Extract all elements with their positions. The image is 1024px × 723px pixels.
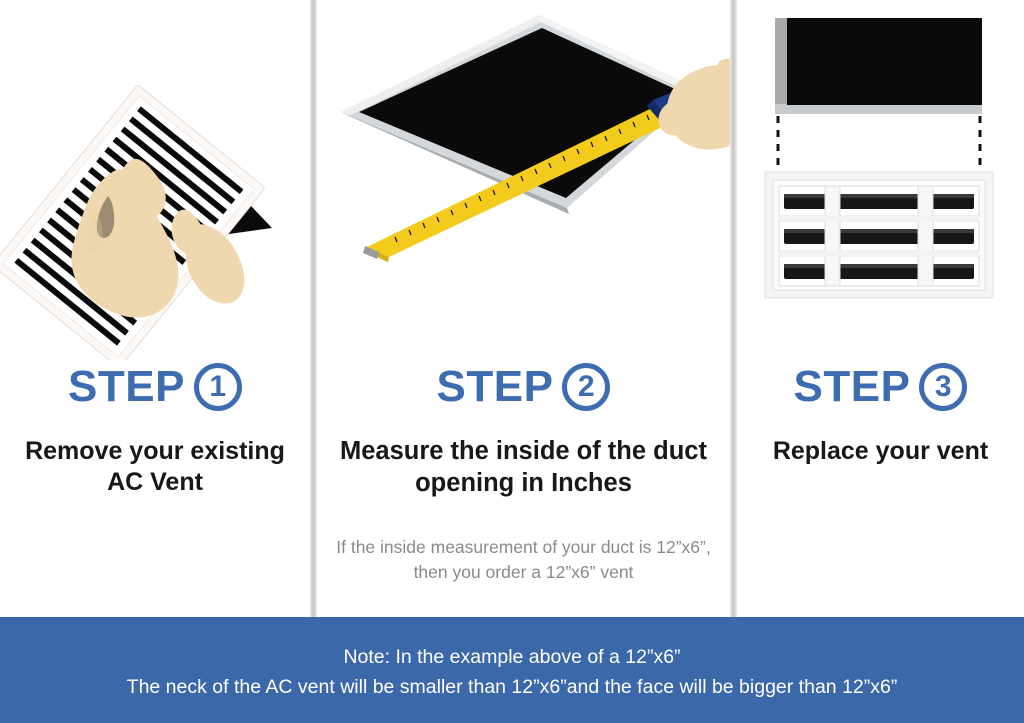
step-3-title: Replace your vent <box>737 436 1024 467</box>
step-3-word: STEP <box>794 365 911 409</box>
circled-number-2-icon: 2 <box>562 363 610 411</box>
step-column-3: STEP 3 Replace your vent <box>737 0 1024 617</box>
duct-opening-top <box>775 18 982 114</box>
step-2-note: If the inside measurement of your duct i… <box>317 535 730 585</box>
banner-line-1: Note: In the example above of a 12”x6” <box>0 643 1024 673</box>
steps-infographic-page: STEP 1 Remove your existing AC Vent <box>0 0 1024 723</box>
column-divider-1 <box>310 0 317 617</box>
banner-line-2: The neck of the AC vent will be smaller … <box>0 673 1024 703</box>
hand-removing-ac-vent-illustration <box>0 0 310 360</box>
step-2-word: STEP <box>437 365 554 409</box>
replace-vent-graphic <box>737 0 1024 360</box>
duct-opening-above-replacement-vent-illustration <box>737 0 1024 360</box>
step-1-word: STEP <box>68 365 185 409</box>
circled-number-1-icon: 1 <box>194 363 242 411</box>
hand-removing-vent-graphic <box>0 0 310 360</box>
circled-number-3-icon: 3 <box>919 363 967 411</box>
step-2-heading: STEP 2 <box>317 360 730 414</box>
step-2-title: Measure the inside of the duct opening i… <box>317 436 730 499</box>
column-divider-2 <box>730 0 737 617</box>
step-3-illustration-area <box>737 0 1024 360</box>
step-1-illustration-area <box>0 0 310 360</box>
measuring-duct-graphic <box>317 0 730 360</box>
duct-opening-cavity <box>787 18 982 105</box>
step-3-heading: STEP 3 <box>737 360 1024 414</box>
step-column-1: STEP 1 Remove your existing AC Vent <box>0 0 310 617</box>
step-2-illustration-area <box>317 0 730 360</box>
tape-measure-on-duct-opening-illustration <box>317 0 730 360</box>
hand-holding-tape-measure <box>658 59 730 150</box>
bottom-note-banner: Note: In the example above of a 12”x6” T… <box>0 617 1024 723</box>
alignment-guide-lines <box>778 116 980 172</box>
step-1-title: Remove your existing AC Vent <box>0 436 310 498</box>
step-1-heading: STEP 1 <box>0 360 310 414</box>
step-column-2: STEP 2 Measure the inside of the duct op… <box>317 0 730 617</box>
replacement-vent <box>765 172 993 298</box>
vent-louver-rows <box>779 186 979 286</box>
